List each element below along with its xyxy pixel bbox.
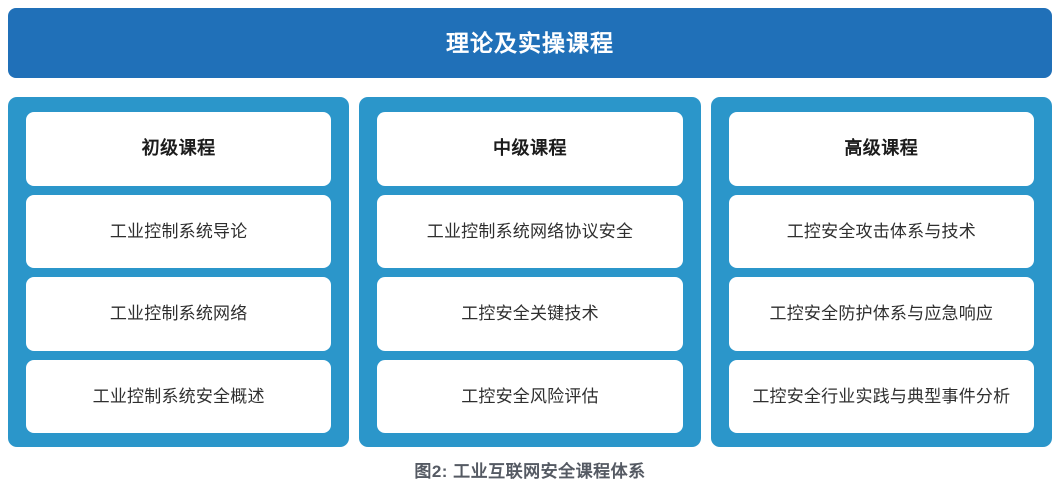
course-system-diagram: 理论及实操课程 初级课程 工业控制系统导论 工业控制系统网络 工业控制系统安全概… [0,0,1060,498]
course-card[interactable]: 工控安全行业实践与典型事件分析 [729,360,1034,434]
course-card[interactable]: 工业控制系统网络协议安全 [377,195,682,269]
course-card[interactable]: 工控安全防护体系与应急响应 [729,277,1034,351]
course-card-label: 工控安全攻击体系与技术 [787,221,976,242]
course-card-label: 工控安全防护体系与应急响应 [770,303,994,324]
course-card-label: 工业控制系统网络协议安全 [427,221,633,242]
course-card-label: 工业控制系统网络 [110,303,248,324]
course-card[interactable]: 工控安全风险评估 [377,360,682,434]
course-card-label: 工业控制系统安全概述 [93,386,265,407]
course-card[interactable]: 工控安全攻击体系与技术 [729,195,1034,269]
course-card[interactable]: 工业控制系统安全概述 [26,360,331,434]
course-card-label: 工控安全关键技术 [461,303,599,324]
column-header-card-beginner: 初级课程 [26,112,331,186]
column-header-card-intermediate: 中级课程 [377,112,682,186]
course-card[interactable]: 工业控制系统网络 [26,277,331,351]
column-header-label-intermediate: 中级课程 [493,138,567,160]
course-card[interactable]: 工控安全关键技术 [377,277,682,351]
column-header-label-advanced: 高级课程 [844,138,918,160]
course-card[interactable]: 工业控制系统导论 [26,195,331,269]
course-card-label: 工控安全风险评估 [461,386,599,407]
course-column-advanced: 高级课程 工控安全攻击体系与技术 工控安全防护体系与应急响应 工控安全行业实践与… [711,97,1052,447]
course-card-label: 工控安全行业实践与典型事件分析 [752,386,1010,407]
column-header-label-beginner: 初级课程 [142,138,216,160]
course-columns: 初级课程 工业控制系统导论 工业控制系统网络 工业控制系统安全概述 中级课程 工… [8,97,1052,447]
diagram-banner: 理论及实操课程 [8,8,1052,78]
figure-caption: 图2: 工业互联网安全课程体系 [0,460,1060,484]
column-header-card-advanced: 高级课程 [729,112,1034,186]
course-column-intermediate: 中级课程 工业控制系统网络协议安全 工控安全关键技术 工控安全风险评估 [359,97,700,447]
course-card-label: 工业控制系统导论 [110,221,248,242]
banner-title: 理论及实操课程 [446,32,614,55]
course-column-beginner: 初级课程 工业控制系统导论 工业控制系统网络 工业控制系统安全概述 [8,97,349,447]
